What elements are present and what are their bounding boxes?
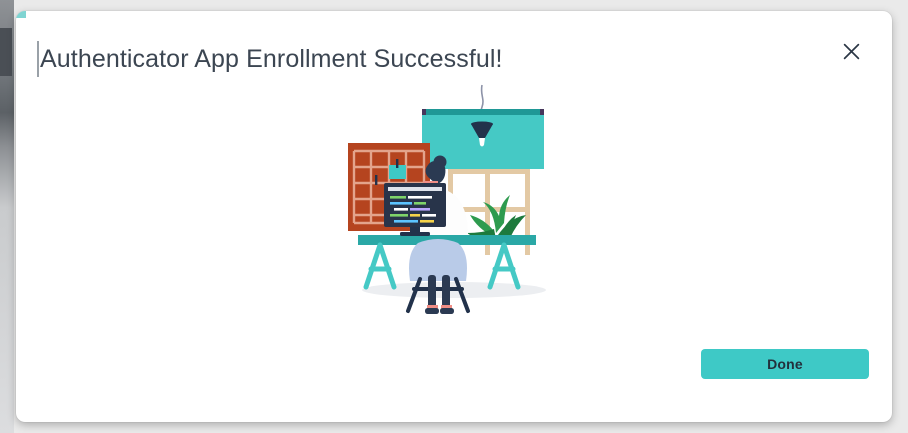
lamp-shade-top [471, 122, 493, 127]
done-button[interactable]: Done [701, 349, 869, 379]
enrollment-success-dialog: Authenticator App Enrollment Successful! [16, 11, 892, 422]
screen-root: Authenticator App Enrollment Successful! [0, 0, 908, 433]
illustration-container [16, 83, 892, 323]
text-caret [37, 41, 39, 77]
shoe-left [425, 308, 439, 314]
monitor-titlebar [388, 187, 442, 191]
chair-seat-back [409, 239, 467, 281]
banner-bracket-right [540, 109, 544, 115]
close-button[interactable] [829, 29, 873, 73]
calendar-pin-2 [375, 175, 377, 185]
calendar-pin-1 [396, 159, 398, 168]
dialog-footer: Done [16, 344, 892, 422]
shoe-right [440, 308, 454, 314]
background-app-strip-dark [0, 28, 12, 76]
dialog-title: Authenticator App Enrollment Successful! [40, 42, 503, 76]
close-icon [843, 43, 860, 60]
person-working-at-desk-illustration [344, 83, 564, 318]
person-hair-bun [434, 156, 447, 169]
banner-bracket-left [422, 109, 426, 115]
banner-top-bar [422, 109, 544, 115]
monitor-stand-base [400, 232, 430, 236]
